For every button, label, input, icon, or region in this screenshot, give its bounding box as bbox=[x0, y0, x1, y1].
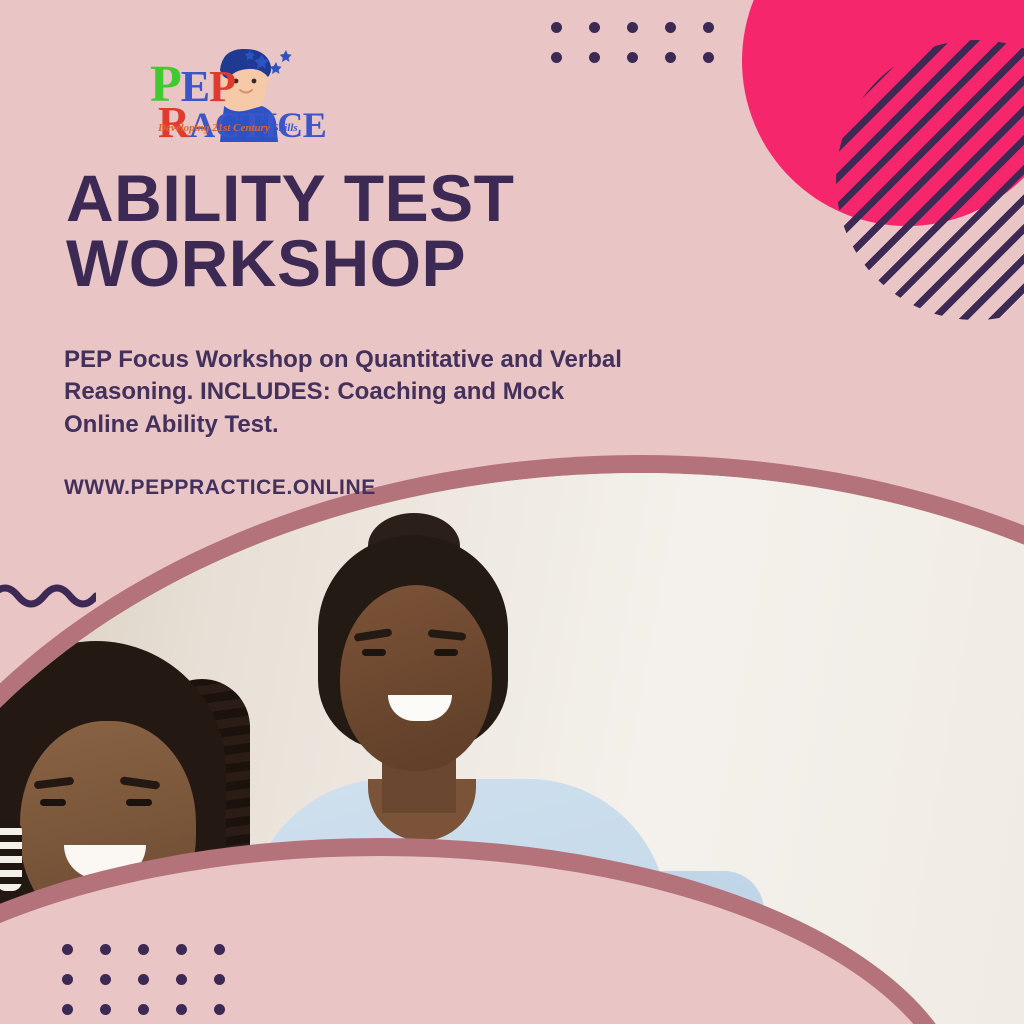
logo-tagline-part2: Skills bbox=[273, 122, 298, 134]
dot bbox=[176, 1004, 187, 1015]
logo-tagline-part1: Developing 21st Century bbox=[158, 122, 273, 134]
dot bbox=[176, 944, 187, 955]
dot bbox=[62, 974, 73, 985]
wavy-line-decoration bbox=[0, 578, 96, 612]
website-url[interactable]: WWW.PEPPRACTICE.ONLINE bbox=[64, 476, 376, 500]
mother-eye-left bbox=[362, 649, 386, 656]
dot bbox=[214, 1004, 225, 1015]
dot bbox=[176, 974, 187, 985]
dot bbox=[214, 944, 225, 955]
dot bbox=[214, 974, 225, 985]
dot bbox=[138, 974, 149, 985]
dot bbox=[100, 944, 111, 955]
poster-canvas: PEP RACTICE Developing 21st Century Skil… bbox=[0, 0, 1024, 1024]
pep-practice-logo[interactable]: PEP RACTICE Developing 21st Century Skil… bbox=[150, 48, 298, 148]
dot-grid-bottom bbox=[62, 944, 252, 1024]
dot bbox=[138, 1004, 149, 1015]
child-eye-left bbox=[40, 799, 66, 806]
mother-face bbox=[340, 585, 492, 771]
dot bbox=[62, 1004, 73, 1015]
dot bbox=[62, 944, 73, 955]
dot bbox=[100, 974, 111, 985]
child-eye-right bbox=[126, 799, 152, 806]
logo-letter-p2: P bbox=[209, 62, 235, 111]
child-earring bbox=[0, 821, 22, 891]
mother-eye-right bbox=[434, 649, 458, 656]
page-title: ABILITY TEST WORKSHOP bbox=[66, 166, 686, 295]
dot bbox=[100, 1004, 111, 1015]
subtitle-text: PEP Focus Workshop on Quantitative and V… bbox=[64, 344, 644, 441]
logo-tagline: Developing 21st Century Skills bbox=[158, 122, 298, 134]
dot bbox=[138, 944, 149, 955]
